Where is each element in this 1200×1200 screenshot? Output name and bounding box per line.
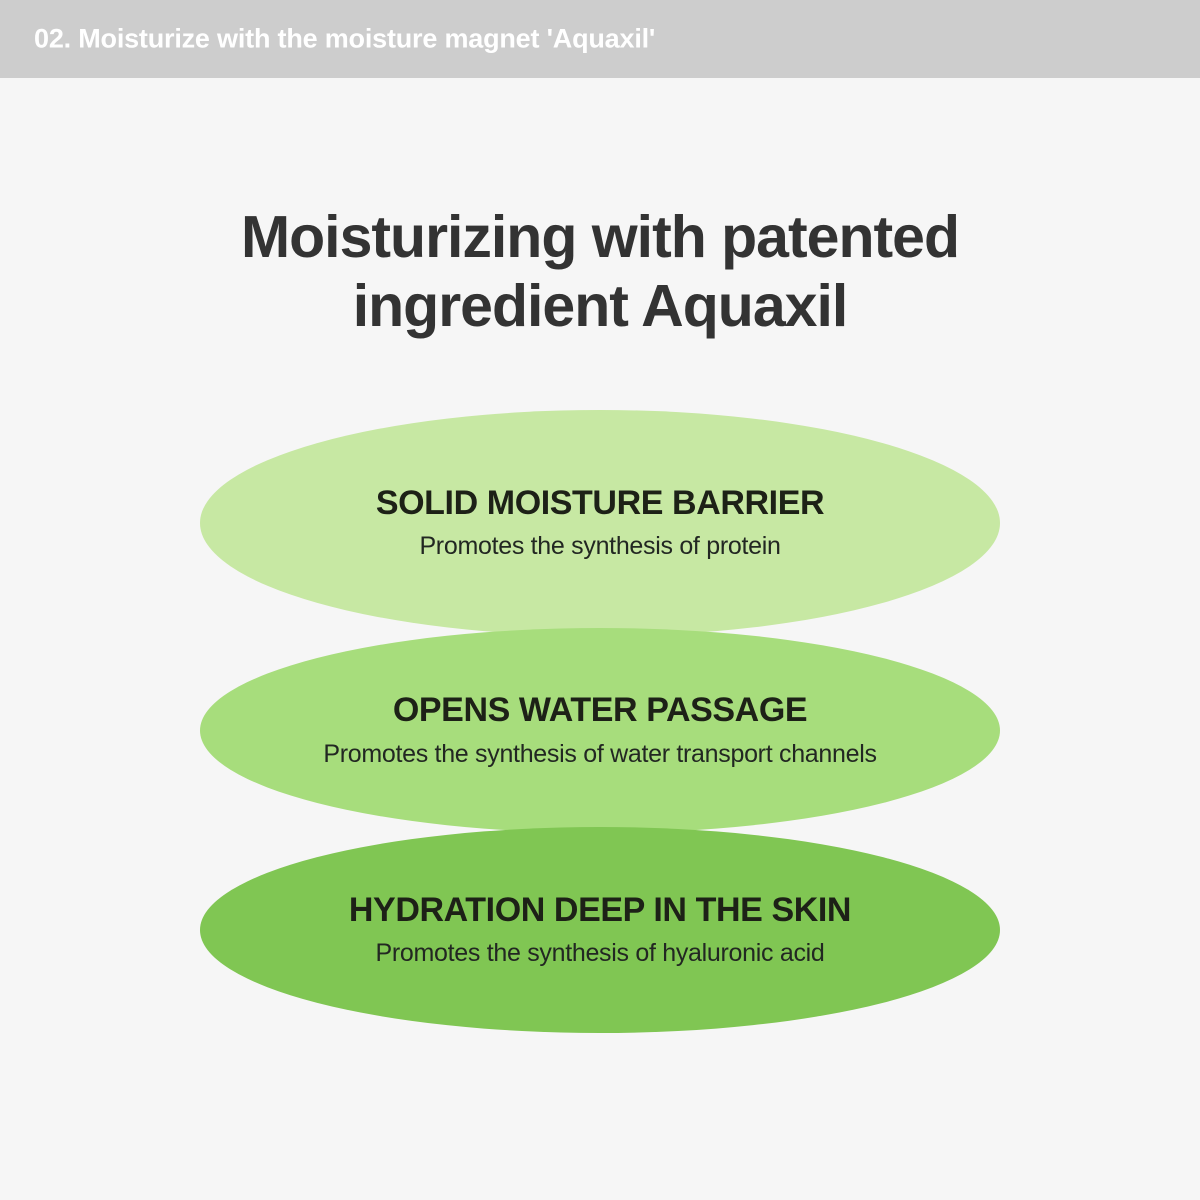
- benefit-title: HYDRATION DEEP IN THE SKIN: [349, 892, 851, 929]
- benefit-ellipse-solid-moisture-barrier: SOLID MOISTURE BARRIER Promotes the synt…: [200, 410, 1000, 636]
- benefit-subtitle: Promotes the synthesis of protein: [419, 531, 780, 561]
- benefit-subtitle: Promotes the synthesis of hyaluronic aci…: [375, 938, 824, 968]
- benefits-diagram: SOLID MOISTURE BARRIER Promotes the synt…: [0, 0, 1200, 1200]
- benefit-subtitle: Promotes the synthesis of water transpor…: [323, 739, 876, 769]
- benefit-ellipse-opens-water-passage: OPENS WATER PASSAGE Promotes the synthes…: [200, 628, 1000, 833]
- benefit-ellipse-hydration-deep-in-the-skin: HYDRATION DEEP IN THE SKIN Promotes the …: [200, 827, 1000, 1033]
- benefit-title: OPENS WATER PASSAGE: [393, 692, 807, 729]
- benefit-title: SOLID MOISTURE BARRIER: [376, 485, 824, 522]
